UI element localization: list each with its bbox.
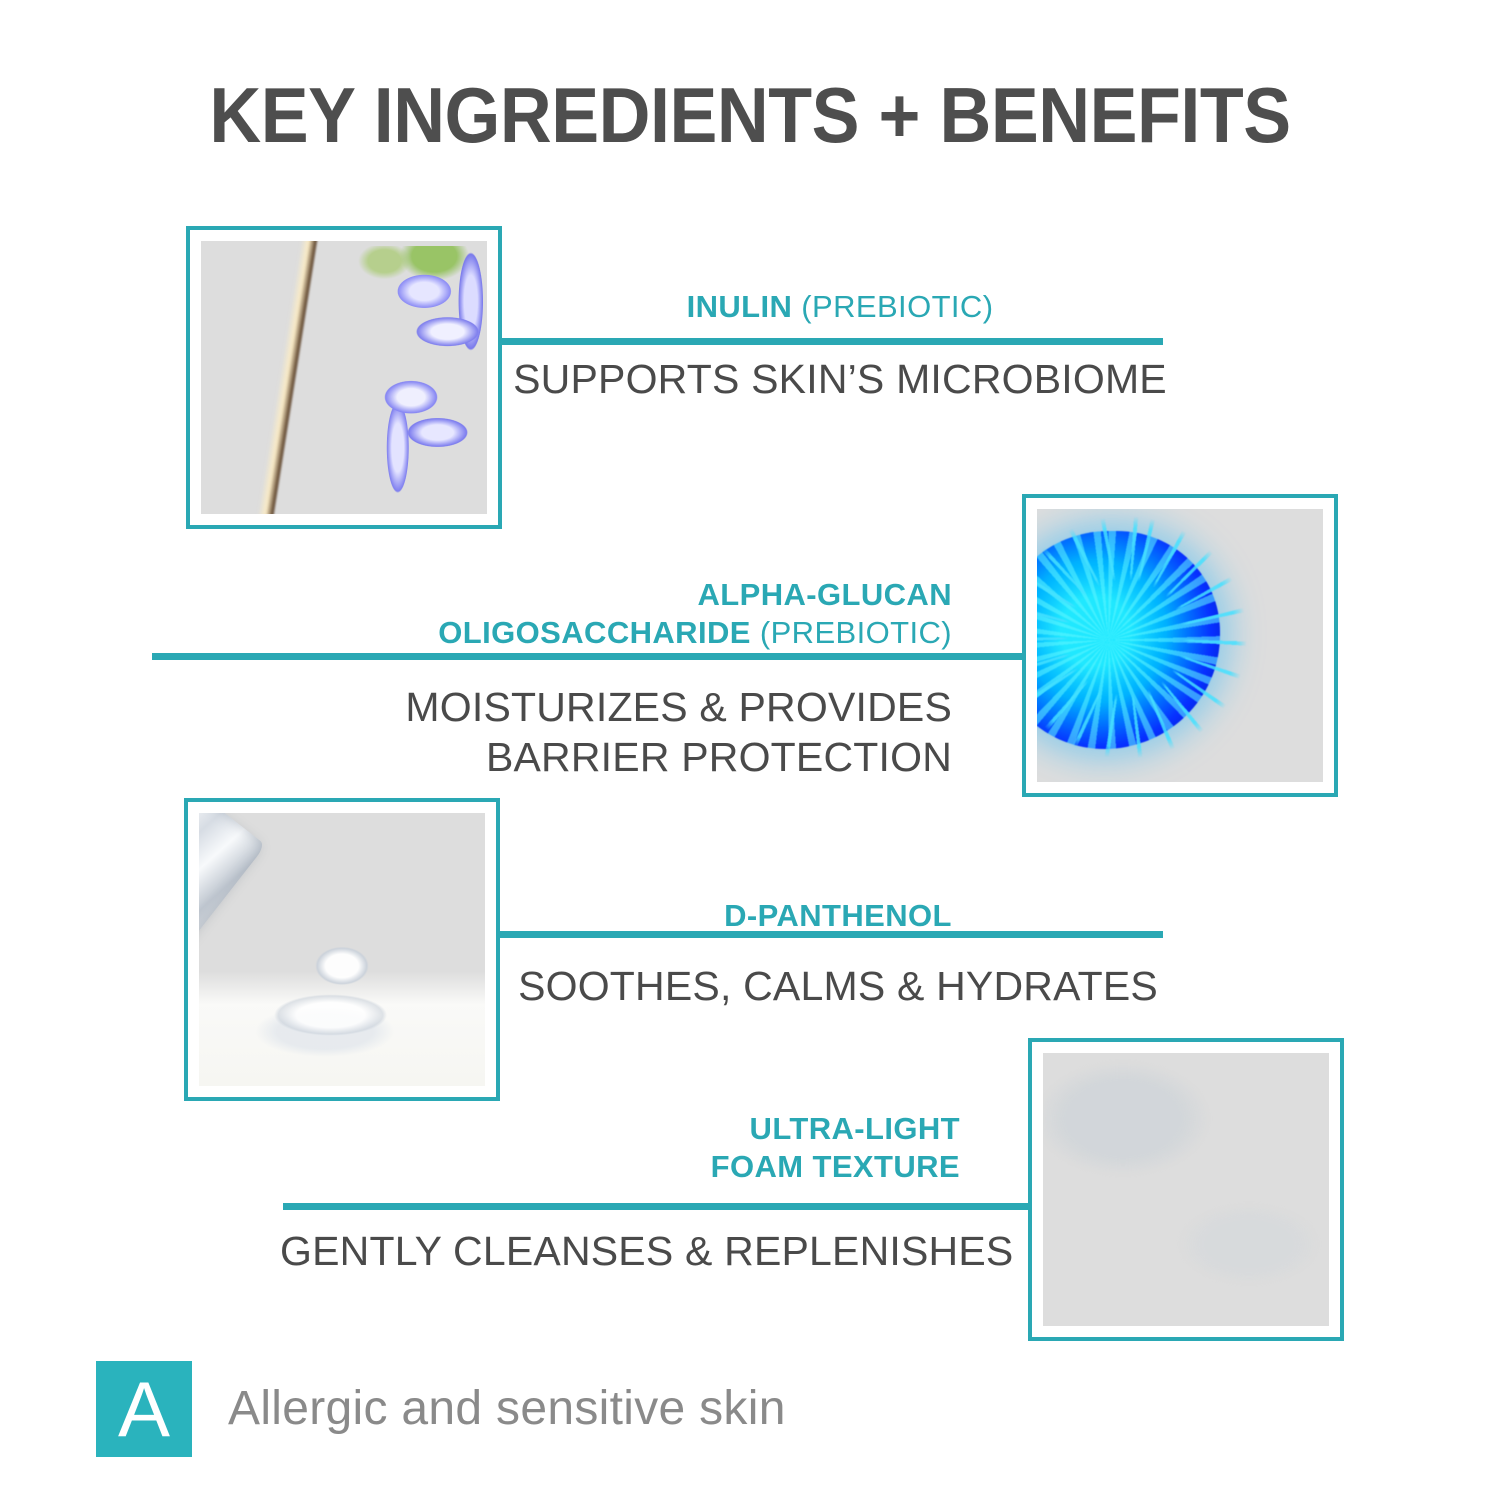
ingredient-benefit-inulin: SUPPORTS SKIN’S MICROBIOME	[510, 354, 1170, 404]
ingredient-name-inulin: INULIN (PREBIOTIC)	[510, 288, 1170, 326]
ingredient-name-alpha-glucan-line2: OLIGOSACCHARIDE (PREBIOTIC)	[152, 614, 952, 652]
ingredient-benefit-alpha-glucan: MOISTURIZES & PROVIDES BARRIER PROTECTIO…	[152, 682, 952, 782]
ingredient-name-foam-texture: FOAM TEXTURE	[280, 1148, 960, 1186]
ingredient-block-foam-texture: ULTRA-LIGHT FOAM TEXTURE GENTLY CLEANSES…	[280, 1110, 960, 1276]
ingredient-image-alpha-glucan-oligosaccharide	[1022, 494, 1338, 797]
ingredient-benefit-alpha-glucan-line1: MOISTURIZES & PROVIDES	[152, 682, 952, 732]
microbe-cell-photo	[1037, 509, 1323, 782]
page-title: KEY INGREDIENTS + BENEFITS	[60, 72, 1440, 158]
ingredient-benefit-d-panthenol: SOOTHES, CALMS & HYDRATES	[508, 961, 1168, 1011]
footer-claim: A Allergic and sensitive skin	[96, 1361, 786, 1457]
ingredient-name-oligosaccharide-bold: OLIGOSACCHARIDE	[438, 615, 751, 650]
footer-claim-label: Allergic and sensitive skin	[228, 1381, 786, 1437]
ingredient-image-d-panthenol	[184, 798, 500, 1101]
ingredient-name-inulin-bold: INULIN	[687, 289, 793, 324]
ingredient-image-inulin	[186, 226, 502, 529]
allergy-badge-icon: A	[96, 1361, 192, 1457]
ingredient-name-ultra-light: ULTRA-LIGHT	[280, 1110, 960, 1148]
ingredient-benefit-alpha-glucan-line2: BARRIER PROTECTION	[152, 732, 952, 782]
ingredient-image-foam-texture	[1028, 1038, 1344, 1341]
ingredient-name-inulin-qualifier: (PREBIOTIC)	[792, 289, 993, 324]
ingredient-benefit-foam-texture: GENTLY CLEANSES & REPLENISHES	[280, 1226, 960, 1276]
ingredient-block-d-panthenol: D-PANTHENOL SOOTHES, CALMS & HYDRATES	[508, 897, 1168, 1011]
foam-texture-photo	[1043, 1053, 1329, 1326]
infographic-canvas: KEY INGREDIENTS + BENEFITS INULIN (PREBI…	[0, 0, 1500, 1500]
ingredient-block-inulin: INULIN (PREBIOTIC) SUPPORTS SKIN’S MICRO…	[510, 288, 1170, 404]
ingredient-block-alpha-glucan-oligosaccharide: ALPHA-GLUCAN OLIGOSACCHARIDE (PREBIOTIC)…	[152, 576, 952, 782]
ingredient-name-d-panthenol: D-PANTHENOL	[508, 897, 1168, 935]
ingredient-name-alpha-glucan-qualifier: (PREBIOTIC)	[751, 615, 952, 650]
glass-dropper-photo	[199, 813, 485, 1086]
chicory-root-photo	[201, 241, 487, 514]
ingredient-name-alpha-glucan-line1: ALPHA-GLUCAN	[152, 576, 952, 614]
